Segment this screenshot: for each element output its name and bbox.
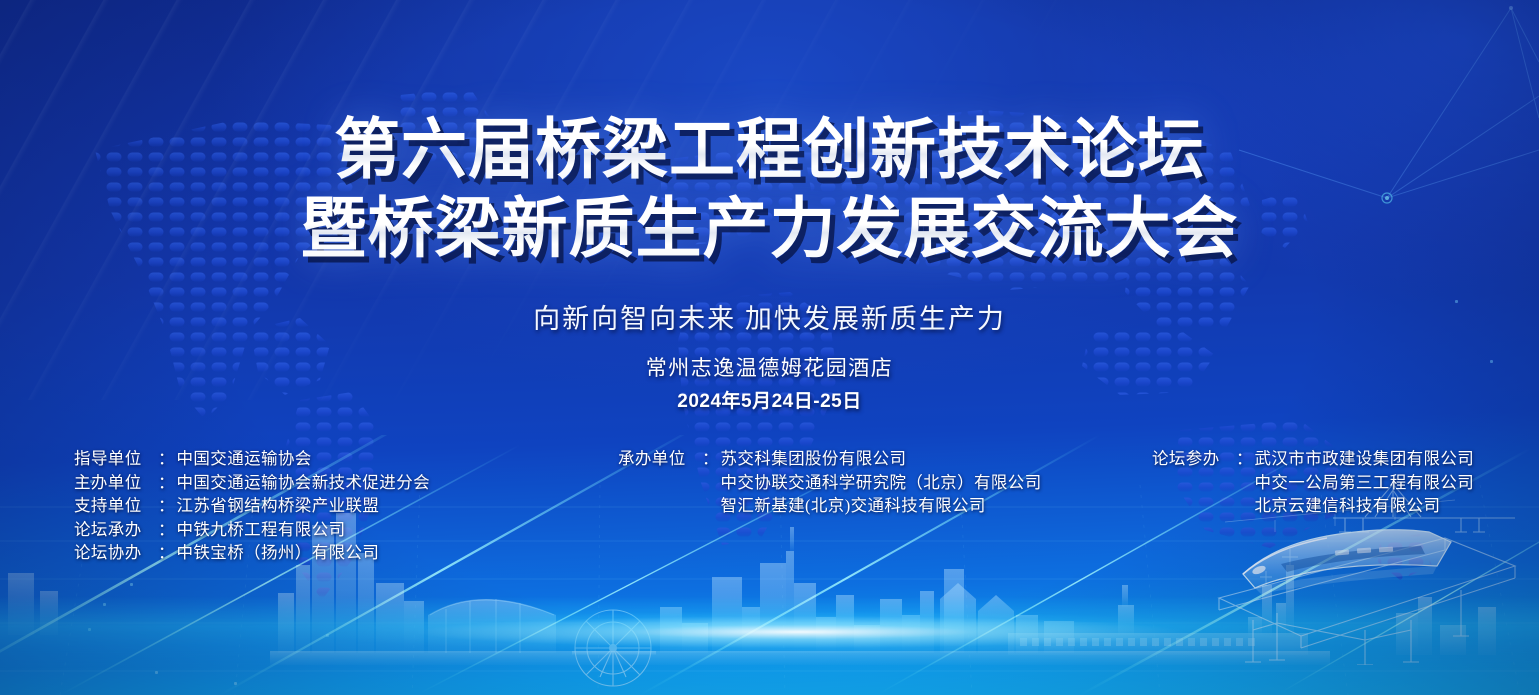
- organizer-value: 中铁九桥工程有限公司: [177, 518, 346, 542]
- event-dates: 2024年5月24日-25日: [0, 386, 1539, 413]
- organizer-value: 中交一公局第三工程有限公司: [1255, 471, 1475, 495]
- title-line-1: 第六届桥梁工程创新技术论坛: [0, 112, 1539, 189]
- organizer-label: 指导单位: [74, 447, 158, 471]
- organizer-row: 承办单位 ： 智汇新基建(北京)交通科技有限公司: [618, 494, 1042, 518]
- organizer-row: 论坛参办 ： 北京云建信科技有限公司: [1152, 494, 1474, 518]
- venue-name: 常州志逸温德姆花园酒店: [0, 352, 1539, 382]
- conference-banner: 第六届桥梁工程创新技术论坛 暨桥梁新质生产力发展交流大会 向新向智向未来 加快发…: [0, 0, 1539, 695]
- organizer-row: 论坛参办 ： 中交一公局第三工程有限公司: [1152, 471, 1474, 495]
- organizer-value: 苏交科集团股份有限公司: [721, 447, 907, 471]
- organizer-row: 论坛协办 ： 中铁宝桥（扬州）有限公司: [74, 541, 430, 565]
- organizer-row: 承办单位 ： 苏交科集团股份有限公司: [618, 447, 1042, 471]
- organizer-row: 论坛参办 ： 武汉市市政建设集团有限公司: [1152, 447, 1474, 471]
- organizer-row: 论坛承办 ： 中铁九桥工程有限公司: [74, 518, 430, 542]
- organizer-separator: ：: [158, 494, 177, 518]
- organizers-section: 指导单位 ： 中国交通运输协会 主办单位 ： 中国交通运输协会新技术促进分会 支…: [0, 447, 1539, 577]
- organizer-value: 中交协联交通科学研究院（北京）有限公司: [721, 471, 1042, 495]
- organizer-row: 承办单位 ： 中交协联交通科学研究院（北京）有限公司: [618, 471, 1042, 495]
- banner-content: 第六届桥梁工程创新技术论坛 暨桥梁新质生产力发展交流大会 向新向智向未来 加快发…: [0, 0, 1539, 695]
- venue-block: 常州志逸温德姆花园酒店 2024年5月24日-25日: [0, 352, 1539, 413]
- slogan-text: 向新向智向未来 加快发展新质生产力: [0, 297, 1539, 336]
- organizer-separator: ：: [158, 518, 177, 542]
- organizer-label: 承办单位: [618, 447, 702, 471]
- organizer-value: 江苏省钢结构桥梁产业联盟: [177, 494, 380, 518]
- organizer-separator: ：: [702, 447, 721, 471]
- organizer-value: 智汇新基建(北京)交通科技有限公司: [721, 494, 986, 518]
- organizer-separator: ：: [1236, 447, 1255, 471]
- organizer-column-left: 指导单位 ： 中国交通运输协会 主办单位 ： 中国交通运输协会新技术促进分会 支…: [74, 447, 430, 565]
- organizer-value: 武汉市市政建设集团有限公司: [1255, 447, 1475, 471]
- organizer-separator: ：: [158, 541, 177, 565]
- organizer-label: 支持单位: [74, 494, 158, 518]
- organizer-row: 主办单位 ： 中国交通运输协会新技术促进分会: [74, 471, 430, 495]
- organizer-label: 论坛协办: [74, 541, 158, 565]
- organizer-row: 指导单位 ： 中国交通运输协会: [74, 447, 430, 471]
- organizer-label: 论坛参办: [1152, 447, 1236, 471]
- organizer-column-center: 承办单位 ： 苏交科集团股份有限公司 承办单位 ： 中交协联交通科学研究院（北京…: [618, 447, 1042, 518]
- organizer-value: 中国交通运输协会: [177, 447, 312, 471]
- title-line-2: 暨桥梁新质生产力发展交流大会: [0, 191, 1539, 268]
- organizer-separator: ：: [158, 471, 177, 495]
- organizer-row: 支持单位 ： 江苏省钢结构桥梁产业联盟: [74, 494, 430, 518]
- organizer-label: 论坛承办: [74, 518, 158, 542]
- organizer-value: 中铁宝桥（扬州）有限公司: [177, 541, 380, 565]
- organizer-value: 北京云建信科技有限公司: [1255, 494, 1441, 518]
- organizer-column-right: 论坛参办 ： 武汉市市政建设集团有限公司 论坛参办 ： 中交一公局第三工程有限公…: [1152, 447, 1474, 518]
- organizer-value: 中国交通运输协会新技术促进分会: [177, 471, 431, 495]
- main-title: 第六届桥梁工程创新技术论坛 暨桥梁新质生产力发展交流大会: [0, 112, 1539, 267]
- organizer-label: 主办单位: [74, 471, 158, 495]
- organizer-separator: ：: [158, 447, 177, 471]
